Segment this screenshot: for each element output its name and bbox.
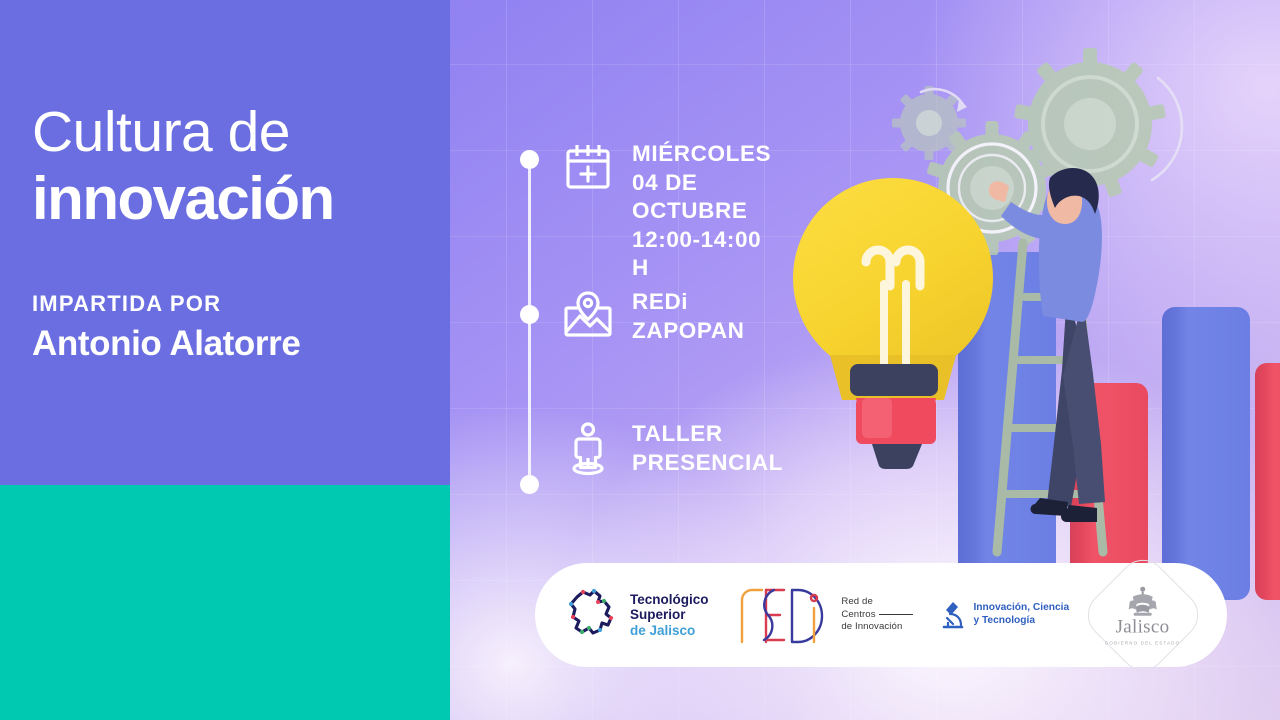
logo-redi: Red de Centros de Innovación	[736, 582, 912, 648]
jalisco-subtitle: GOBIERNO DEL ESTADO	[1105, 641, 1181, 646]
speaker-block: IMPARTIDA POR Antonio Alatorre	[32, 291, 442, 364]
tsj-line-1: Tecnológico	[630, 592, 709, 608]
tsj-line-3: de Jalisco	[630, 623, 709, 639]
detail-row-date: MIÉRCOLES 04 DE OCTUBRE 12:00-14:00 H	[562, 140, 771, 283]
timeline-dot-3	[520, 475, 539, 494]
redi-line-3: de Innovación	[841, 621, 912, 634]
tsj-line-2: Superior	[630, 607, 709, 623]
headline-line-1: Cultura de	[32, 104, 432, 161]
calendar-plus-icon	[562, 140, 614, 192]
logo-innovacion-ciencia-tecnologia: Innovación, Ciencia y Tecnología	[940, 598, 1069, 632]
timeline-dot-1	[520, 150, 539, 169]
redi-line-2: Centros	[841, 609, 875, 620]
detail-text-date: MIÉRCOLES 04 DE OCTUBRE 12:00-14:00 H	[632, 140, 771, 283]
redi-line-1: Red de	[841, 596, 912, 609]
microscope-icon	[940, 598, 966, 632]
speaker-name: Antonio Alatorre	[32, 324, 442, 364]
map-location-icon	[562, 288, 614, 340]
timeline-line	[528, 154, 531, 494]
poster: Cultura de innovación IMPARTIDA POR Anto…	[0, 0, 1280, 720]
detail-row-location: REDi ZAPOPAN	[562, 288, 745, 345]
jalisco-name: Jalisco	[1116, 617, 1170, 639]
person-standing-icon	[562, 420, 614, 476]
jalisco-crest-icon	[1123, 585, 1163, 619]
detail-text-location: REDi ZAPOPAN	[632, 288, 745, 345]
detail-text-format: TALLER PRESENCIAL	[632, 420, 783, 477]
detail-row-format: TALLER PRESENCIAL	[562, 420, 783, 477]
speaker-label: IMPARTIDA POR	[32, 291, 442, 317]
logo-jalisco-gobierno: Jalisco GOBIERNO DEL ESTADO	[1078, 550, 1208, 680]
headline: Cultura de innovación	[32, 104, 432, 230]
redi-wordmark-icon	[736, 582, 832, 648]
logo-tecnologico-superior-de-jalisco: Tecnológico Superior de Jalisco	[563, 587, 709, 643]
ict-line-1: Innovación, Ciencia	[973, 602, 1069, 615]
jalisco-map-dots-icon	[563, 587, 621, 643]
left-purple-panel	[0, 0, 450, 485]
headline-line-2: innovación	[32, 167, 432, 230]
teal-block	[0, 485, 450, 720]
ict-line-2: y Tecnología	[973, 615, 1069, 628]
timeline-dot-2	[520, 305, 539, 324]
sponsor-logo-bar: Tecnológico Superior de Jalisco Red de C…	[535, 563, 1227, 667]
